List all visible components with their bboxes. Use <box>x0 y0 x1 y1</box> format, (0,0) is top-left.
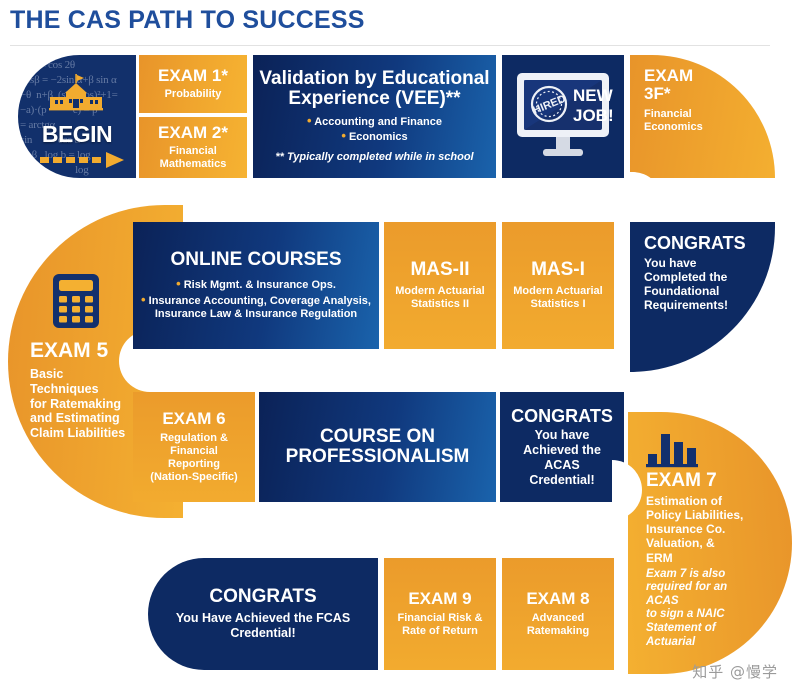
exam-6-subtitle-line-2: Financial <box>150 445 237 458</box>
exam-7-note-line-6: Actuarial <box>646 636 764 650</box>
exam-9-card[interactable]: EXAM 9 Financial Risk & Rate of Return <box>384 558 496 670</box>
exam-3f-title-line-2: 3F* <box>644 85 775 103</box>
exam-8-subtitle-line-2: Ratemaking <box>527 625 589 638</box>
exam-6-subtitle: Regulation & Financial Reporting (Nation… <box>150 432 237 484</box>
congrats-acas-body: You have Achieved the ACAS Credential! <box>523 428 601 487</box>
exam-3f-subtitle-line-1: Financial <box>644 108 775 121</box>
exam-9-subtitle-line-2: Rate of Return <box>402 625 478 638</box>
exam-2-subtitle-line-2: Mathematics <box>160 158 227 171</box>
school-building-icon <box>48 73 106 119</box>
exam-7-card[interactable]: EXAM 7 Estimation of Policy Liabilities,… <box>628 412 792 674</box>
new-job-card[interactable]: HIRED NEW JOB! <box>502 55 624 178</box>
exam-3f-card[interactable]: EXAM 3F* Financial Economics <box>630 55 775 178</box>
online-courses-bullet-1: • Risk Mgmt. & Insurance Ops. <box>141 277 371 292</box>
congrats-fcas-title: CONGRATS <box>209 587 316 607</box>
exam-2-title: EXAM 2* <box>158 124 228 142</box>
congrats-foundational-card[interactable]: CONGRATS You have Completed the Foundati… <box>630 222 775 372</box>
exam-7-note: Exam 7 is also required for an ACAS to s… <box>646 568 764 649</box>
mas-2-subtitle-line-1: Modern Actuarial <box>395 285 484 298</box>
exam-6-subtitle-line-4: (Nation-Specific) <box>150 471 237 484</box>
desktop-monitor-icon: HIRED NEW JOB! <box>513 71 613 163</box>
watermark: 知乎 @慢学 <box>692 661 778 682</box>
calculator-icon <box>52 273 100 329</box>
exam-7-subtitle-line-2: Policy Liabilities, <box>646 508 764 522</box>
page-title: THE CAS PATH TO SUCCESS <box>10 6 365 35</box>
congrats-acas-title: CONGRATS <box>511 407 613 426</box>
hired-stamp-icon: HIRED <box>531 87 567 121</box>
exam-9-subtitle-line-1: Financial Risk & <box>398 612 483 625</box>
vee-title-line-2: Experience (VEE)** <box>288 89 460 109</box>
exam-3f-title-line-1: EXAM <box>644 67 775 85</box>
mas-1-card[interactable]: MAS-I Modern Actuarial Statistics I <box>502 222 614 349</box>
title-divider <box>10 45 770 46</box>
exam-7-note-line-2: required for an <box>646 581 764 595</box>
congrats-acas-line-2: Achieved the <box>523 443 601 458</box>
exam-6-subtitle-line-3: Reporting <box>150 458 237 471</box>
bar-chart-icon <box>646 430 698 468</box>
mas-1-subtitle-line-1: Modern Actuarial <box>513 285 602 298</box>
congrats-fcas-line-1: You Have Achieved the FCAS <box>176 611 350 626</box>
exam-3f-subtitle-line-2: Economics <box>644 121 775 134</box>
vee-footnote: ** Typically completed while in school <box>275 151 473 164</box>
exam-9-title: EXAM 9 <box>408 590 471 608</box>
exam-7-subtitle-line-3: Insurance Co. <box>646 522 764 536</box>
vee-bullet-1: • Accounting and Finance <box>307 114 442 129</box>
vee-bullet-1-label: Accounting and Finance <box>314 116 442 128</box>
congrats-fcas-line-2: Credential! <box>230 626 295 641</box>
vee-bullet-list: • Accounting and Finance • Economics <box>307 114 442 144</box>
online-courses-bullet-2: • Insurance Accounting, Coverage Analysi… <box>141 293 371 321</box>
vee-bullet-2: • Economics <box>307 129 442 144</box>
professionalism-title-line-2: PROFESSIONALISM <box>286 447 470 467</box>
exam-7-note-line-1: Exam 7 is also <box>646 568 764 582</box>
congrats-foundational-body: You have Completed the Foundational Requ… <box>644 256 775 313</box>
congrats-foundational-line-2: Completed the <box>644 270 775 284</box>
exam-1-title: EXAM 1* <box>158 67 228 85</box>
exam-2-card[interactable]: EXAM 2* Financial Mathematics <box>139 117 247 178</box>
exam-2-subtitle-line-1: Financial <box>169 145 217 158</box>
vee-title-line-1: Validation by Educational <box>259 69 489 89</box>
congrats-foundational-title: CONGRATS <box>644 234 775 253</box>
exam-1-card[interactable]: EXAM 1* Probability <box>139 55 247 113</box>
vee-card[interactable]: Validation by Educational Experience (VE… <box>253 55 496 178</box>
exam-7-note-line-5: Statement of <box>646 622 764 636</box>
exam-6-title: EXAM 6 <box>162 410 225 428</box>
professionalism-card[interactable]: COURSE ON PROFESSIONALISM <box>259 392 496 502</box>
exam-7-title: EXAM 7 <box>646 471 764 491</box>
exam-7-subtitle-line-4: Valuation, & <box>646 536 764 550</box>
congrats-foundational-line-1: You have <box>644 256 775 270</box>
mas-1-title: MAS-I <box>531 260 585 280</box>
exam-1-subtitle: Probability <box>165 88 222 101</box>
online-courses-bullet-list: • Risk Mgmt. & Insurance Ops. • Insuranc… <box>141 277 371 322</box>
online-courses-title: ONLINE COURSES <box>170 250 341 270</box>
congrats-foundational-line-3: Foundational <box>644 284 775 298</box>
exam-8-card[interactable]: EXAM 8 Advanced Ratemaking <box>502 558 614 670</box>
exam-7-subtitle-line-1: Estimation of <box>646 494 764 508</box>
dashed-arrow-right-icon <box>40 152 128 168</box>
svg-text:NEW: NEW <box>573 86 613 105</box>
infographic-canvas: THE CAS PATH TO SUCCESS α = 1+cos 2θ cos… <box>0 0 792 688</box>
exam-8-subtitle-line-1: Advanced <box>532 612 585 625</box>
online-courses-bullet-2-label: Insurance Accounting, Coverage Analysis,… <box>149 295 371 320</box>
congrats-acas-card[interactable]: CONGRATS You have Achieved the ACAS Cred… <box>500 392 624 502</box>
mas-2-title: MAS-II <box>410 260 469 280</box>
mas-2-card[interactable]: MAS-II Modern Actuarial Statistics II <box>384 222 496 349</box>
exam-7-subtitle: Estimation of Policy Liabilities, Insura… <box>646 494 764 565</box>
bullet-dot-icon: • <box>141 292 146 307</box>
exam-6-subtitle-line-1: Regulation & <box>150 432 237 445</box>
mas-2-subtitle-line-2: Statistics II <box>411 298 469 311</box>
congrats-foundational-line-4: Requirements! <box>644 298 775 312</box>
begin-pod: α = 1+cos 2θ cosβ = −2sin α+β sin α −θ n… <box>18 55 136 178</box>
exam-7-subtitle-line-5: ERM <box>646 551 764 565</box>
exam-7-note-line-3: ACAS <box>646 595 764 609</box>
congrats-acas-line-4: Credential! <box>523 473 601 488</box>
mas-1-subtitle-line-2: Statistics I <box>530 298 585 311</box>
svg-text:JOB!: JOB! <box>573 106 613 125</box>
congrats-acas-line-1: You have <box>523 428 601 443</box>
exam-7-note-line-4: to sign a NAIC <box>646 608 764 622</box>
congrats-acas-line-3: ACAS <box>523 458 601 473</box>
bullet-dot-icon: • <box>176 276 181 291</box>
congrats-fcas-card[interactable]: CONGRATS You Have Achieved the FCAS Cred… <box>148 558 378 670</box>
online-courses-card[interactable]: ONLINE COURSES • Risk Mgmt. & Insurance … <box>133 222 379 349</box>
professionalism-title-line-1: COURSE ON <box>320 427 435 447</box>
bullet-dot-icon: • <box>341 128 346 143</box>
begin-label: BEGIN <box>18 121 136 148</box>
exam-8-title: EXAM 8 <box>526 590 589 608</box>
title-bar: THE CAS PATH TO SUCCESS <box>0 0 792 46</box>
exam-6-card[interactable]: EXAM 6 Regulation & Financial Reporting … <box>133 392 255 502</box>
vee-bullet-2-label: Economics <box>349 131 408 143</box>
online-courses-bullet-1-label: Risk Mgmt. & Insurance Ops. <box>184 279 336 291</box>
bullet-dot-icon: • <box>307 113 312 128</box>
